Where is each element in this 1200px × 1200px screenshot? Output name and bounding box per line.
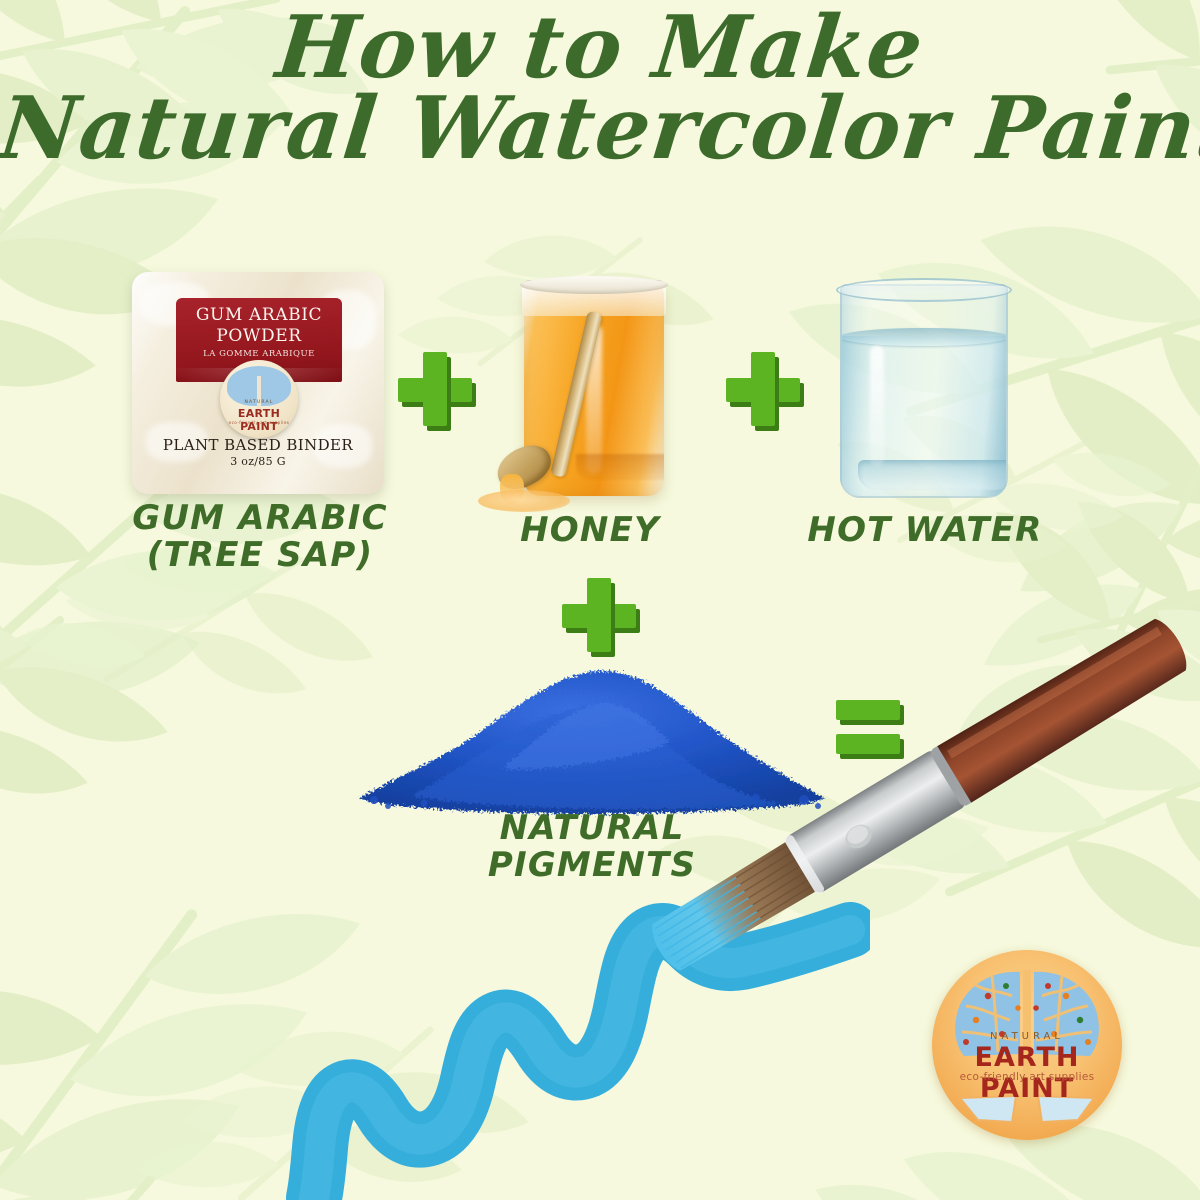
jar-base-shadow: [576, 454, 664, 480]
honey-pool: [478, 490, 570, 512]
title-line-2: Natural Watercolor Paint: [0, 89, 1200, 170]
water-glass: [828, 278, 1018, 500]
glass-water-surface: [840, 328, 1008, 346]
gum-arabic-package: GUM ARABIC POWDER LA GOMME ARABIQUE NATU…: [132, 272, 384, 494]
ingredient-label-gum-arabic: GUM ARABIC (TREE SAP): [110, 500, 410, 573]
badge-tagline: eco-friendly art supplies: [932, 1071, 1122, 1083]
package-weight-text: 3 oz/85 G: [132, 455, 384, 468]
package-title-line2: POWDER: [176, 326, 342, 346]
seal-tagline: eco-friendly art supplies: [220, 420, 298, 425]
package-title-line1: GUM ARABIC: [176, 305, 342, 325]
brush-ferrule: [783, 748, 968, 895]
poster-title: How to Make Natural Watercolor Paint: [0, 8, 1200, 170]
plus-icon-1: [398, 352, 472, 426]
title-line-1: How to Make: [0, 8, 1200, 89]
ingredient-label-honey: HONEY: [470, 512, 710, 549]
package-subtitle: LA GOMME ARABIQUE: [176, 349, 342, 359]
seal-top-text: NATURAL: [220, 400, 298, 405]
honey-jar: [478, 272, 698, 512]
brush-handle: [937, 612, 1195, 803]
ingredient-label-hot-water: HOT WATER: [800, 512, 1050, 549]
package-binder-text: PLANT BASED BINDER: [132, 436, 384, 454]
jar-rim: [520, 276, 668, 294]
package-bottom-text: PLANT BASED BINDER 3 oz/85 G: [132, 436, 384, 468]
plus-icon-2: [726, 352, 800, 426]
earth-paint-logo-badge[interactable]: NATURAL EARTH PAINT eco-friendly art sup…: [932, 950, 1122, 1140]
infographic-poster: How to Make Natural Watercolor Paint GUM…: [0, 0, 1200, 1200]
badge-top-text: NATURAL: [932, 1031, 1122, 1042]
glass-rim: [836, 278, 1012, 302]
package-earth-paint-seal: NATURAL EARTH PAINT eco-friendly art sup…: [220, 360, 298, 438]
badge-circle: NATURAL EARTH PAINT eco-friendly art sup…: [932, 950, 1122, 1140]
glass-highlight: [870, 346, 884, 466]
glass-body: [840, 284, 1008, 498]
